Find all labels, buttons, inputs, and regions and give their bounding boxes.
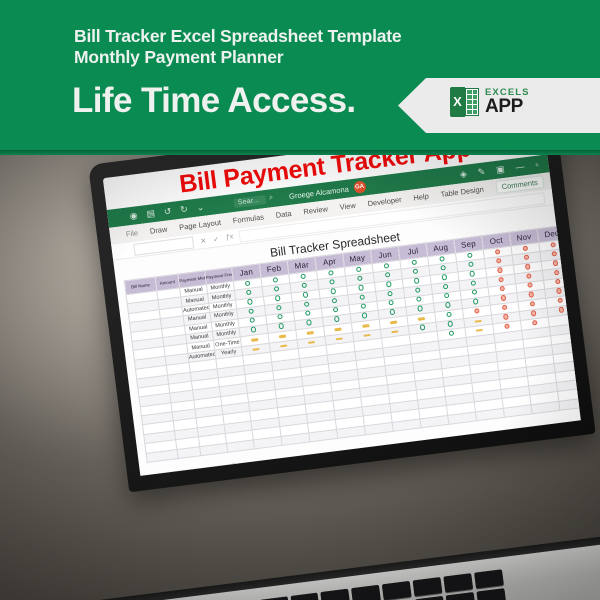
page-layout-view-icon[interactable] <box>483 446 495 458</box>
paid-status-icon <box>272 277 278 283</box>
cell-empty <box>420 415 449 428</box>
paid-status-icon <box>443 284 449 290</box>
cell-empty <box>475 408 504 421</box>
paid-status-icon <box>249 317 255 323</box>
unpaid-status-icon <box>499 286 505 292</box>
close-icon[interactable]: ▫ <box>535 160 539 170</box>
paid-status-icon <box>386 281 392 287</box>
not-applicable-status-icon <box>476 329 483 332</box>
brand-name-bottom: APP <box>485 97 530 116</box>
excel-icon-letter: X <box>450 87 465 117</box>
unpaid-status-icon <box>551 251 557 257</box>
paid-status-icon <box>330 288 336 294</box>
promo-subtitle: Bill Tracker Excel Spreadsheet Template … <box>74 26 504 68</box>
not-applicable-status-icon <box>363 333 370 336</box>
unpaid-status-icon <box>497 267 503 273</box>
paid-status-icon <box>306 320 312 326</box>
unpaid-status-icon <box>524 254 530 260</box>
tab-developer[interactable]: Developer <box>361 194 408 209</box>
promo-banner: Bill Tracker Excel Spreadsheet Template … <box>0 0 600 155</box>
unpaid-status-icon <box>554 269 560 275</box>
paid-status-icon <box>246 289 252 295</box>
search-box[interactable]: Sear... ⌕ <box>233 194 273 208</box>
minimize-icon[interactable]: — <box>515 161 525 172</box>
paid-status-icon <box>416 296 422 302</box>
formula-bar-icons[interactable]: ✕ ✓ ƒx <box>200 233 234 245</box>
cell-empty <box>503 405 532 418</box>
laptop-lid: Bill Payment Tracker App ◉ ▤ ↺ ↻ ⌄ Sear.… <box>88 155 596 492</box>
cell-empty <box>177 446 201 458</box>
paid-status-icon <box>471 289 477 295</box>
unpaid-status-icon <box>525 264 531 270</box>
cell-empty <box>226 440 254 453</box>
laptop-display: Bill Payment Tracker App ◉ ▤ ↺ ↻ ⌄ Sear.… <box>103 155 581 476</box>
paid-status-icon <box>419 324 425 330</box>
paid-status-icon <box>334 316 340 322</box>
paid-status-icon <box>388 300 394 306</box>
undo-icon[interactable]: ↺ <box>163 206 172 216</box>
cell-empty <box>337 426 366 439</box>
paid-status-icon <box>412 268 418 274</box>
zoom-track[interactable] <box>531 440 577 447</box>
paid-status-icon <box>356 266 362 272</box>
paid-status-icon <box>331 298 337 304</box>
search-icon[interactable]: ⌕ <box>269 194 274 202</box>
paid-status-icon <box>411 259 417 265</box>
not-applicable-status-icon <box>279 335 286 338</box>
promo-headline: Life Time Access. <box>72 81 356 121</box>
cell-empty <box>392 419 421 432</box>
unpaid-status-icon <box>528 292 534 298</box>
tab-help[interactable]: Help <box>407 191 435 203</box>
cell-empty <box>253 436 282 449</box>
autosave-icon[interactable]: ◉ <box>129 211 138 221</box>
tab-review[interactable]: Review <box>297 204 334 218</box>
zoom-knob[interactable] <box>552 439 555 448</box>
paid-status-icon <box>415 287 421 293</box>
not-applicable-status-icon <box>336 337 343 340</box>
unpaid-status-icon <box>504 323 510 329</box>
paid-status-icon <box>439 256 445 262</box>
unpaid-status-icon <box>557 297 563 303</box>
unpaid-status-icon <box>526 273 532 279</box>
unpaid-status-icon <box>531 310 537 316</box>
paid-status-icon <box>248 308 254 314</box>
paid-status-icon <box>274 286 280 292</box>
paid-status-icon <box>245 280 251 286</box>
tab-formulas[interactable]: Formulas <box>226 212 270 226</box>
not-applicable-status-icon <box>308 340 315 343</box>
paid-status-icon <box>441 274 447 280</box>
paid-status-icon <box>360 303 366 309</box>
paid-status-icon <box>417 306 423 312</box>
paid-status-icon <box>277 314 283 320</box>
fx-icon[interactable]: ƒx <box>225 233 233 242</box>
not-applicable-status-icon <box>252 348 259 351</box>
paid-status-icon <box>445 302 451 308</box>
paid-status-icon <box>357 275 363 281</box>
cell-empty <box>364 422 393 435</box>
paid-status-icon <box>250 327 256 333</box>
promo-image: Bill Tracker Excel Spreadsheet Template … <box>0 0 600 600</box>
unpaid-status-icon <box>522 245 528 251</box>
diamond-icon[interactable]: ◈ <box>459 168 467 180</box>
cell-empty <box>531 401 560 414</box>
paid-status-icon <box>305 310 311 316</box>
not-applicable-status-icon <box>334 328 341 331</box>
paid-status-icon <box>275 295 281 301</box>
unpaid-status-icon <box>558 307 564 313</box>
search-input[interactable]: Sear... <box>233 195 266 208</box>
not-applicable-status-icon <box>391 330 398 333</box>
plus-icon[interactable]: + <box>579 437 581 444</box>
unpaid-status-icon <box>556 288 562 294</box>
paid-status-icon <box>469 271 475 277</box>
paid-status-icon <box>446 311 452 317</box>
excel-document-icon: X <box>450 87 480 117</box>
cancel-icon[interactable]: ✕ <box>200 236 207 245</box>
cell-empty <box>309 429 338 442</box>
brand-logo-text: EXCELS APP <box>485 88 530 117</box>
paid-status-icon <box>278 323 284 329</box>
tab-file[interactable]: File <box>110 228 145 241</box>
unpaid-status-icon <box>474 308 480 314</box>
unpaid-status-icon <box>495 249 501 255</box>
paid-status-icon <box>383 263 389 269</box>
cell-empty <box>448 412 477 425</box>
unpaid-status-icon <box>550 242 556 248</box>
tab-view[interactable]: View <box>333 200 362 212</box>
promo-subtitle-line2: Monthly Payment Planner <box>74 47 504 68</box>
tab-data[interactable]: Data <box>269 208 298 220</box>
unpaid-status-icon <box>503 314 509 320</box>
minus-icon[interactable]: − <box>523 444 528 451</box>
normal-view-icon[interactable] <box>463 448 475 460</box>
paid-status-icon <box>358 285 364 291</box>
paid-status-icon <box>301 282 307 288</box>
paid-status-icon <box>333 307 339 313</box>
promo-subtitle-line1: Bill Tracker Excel Spreadsheet Template <box>74 26 401 46</box>
not-applicable-status-icon <box>418 317 425 320</box>
paid-status-icon <box>414 278 420 284</box>
paid-status-icon <box>440 265 446 271</box>
paid-status-icon <box>447 321 453 327</box>
not-applicable-status-icon <box>475 319 482 322</box>
paid-status-icon <box>467 252 473 258</box>
paid-status-icon <box>389 309 395 315</box>
redo-icon[interactable]: ↻ <box>180 204 189 214</box>
paid-status-icon <box>329 279 335 285</box>
not-applicable-status-icon <box>307 331 314 334</box>
unpaid-status-icon <box>498 276 504 282</box>
tab-draw[interactable]: Draw <box>143 224 173 237</box>
accept-icon[interactable]: ✓ <box>213 235 220 244</box>
paid-status-icon <box>387 291 393 297</box>
not-applicable-status-icon <box>280 344 287 347</box>
ribbon-display-icon[interactable]: ▣ <box>495 163 505 175</box>
paid-status-icon <box>473 299 479 305</box>
unpaid-status-icon <box>529 301 535 307</box>
brand-logo: X EXCELS APP <box>450 87 530 117</box>
unpaid-status-icon <box>502 304 508 310</box>
unpaid-status-icon <box>496 258 502 264</box>
paid-status-icon <box>359 294 365 300</box>
avatar[interactable]: GA <box>353 180 366 193</box>
save-icon[interactable]: ▤ <box>146 209 156 219</box>
cell-empty <box>281 433 310 446</box>
paid-status-icon <box>247 299 253 305</box>
unpaid-status-icon <box>552 260 558 266</box>
cell-empty <box>200 443 228 456</box>
paid-status-icon <box>385 272 391 278</box>
not-applicable-status-icon <box>362 324 369 327</box>
unpaid-status-icon <box>527 282 533 288</box>
paid-status-icon <box>300 273 306 279</box>
not-applicable-status-icon <box>251 338 258 341</box>
unpaid-status-icon <box>500 295 506 301</box>
paid-status-icon <box>448 330 454 336</box>
pen-icon[interactable]: ✎ <box>477 166 486 178</box>
unpaid-status-icon <box>555 279 561 285</box>
unpaid-status-icon <box>532 320 538 326</box>
paid-status-icon <box>328 270 334 276</box>
page-break-view-icon[interactable] <box>503 443 515 455</box>
not-applicable-status-icon <box>390 321 397 324</box>
paid-status-icon <box>276 305 282 311</box>
paid-status-icon <box>470 280 476 286</box>
more-icon[interactable]: ⌄ <box>196 202 205 212</box>
paid-status-icon <box>304 301 310 307</box>
brand-logo-tag: X EXCELS APP <box>398 78 600 133</box>
paid-status-icon <box>362 313 368 319</box>
paid-status-icon <box>302 292 308 298</box>
laptop-photo: Bill Payment Tracker App ◉ ▤ ↺ ↻ ⌄ Sear.… <box>0 155 600 600</box>
paid-status-icon <box>444 293 450 299</box>
excel-icon-grid <box>465 88 479 116</box>
paid-status-icon <box>468 261 474 267</box>
